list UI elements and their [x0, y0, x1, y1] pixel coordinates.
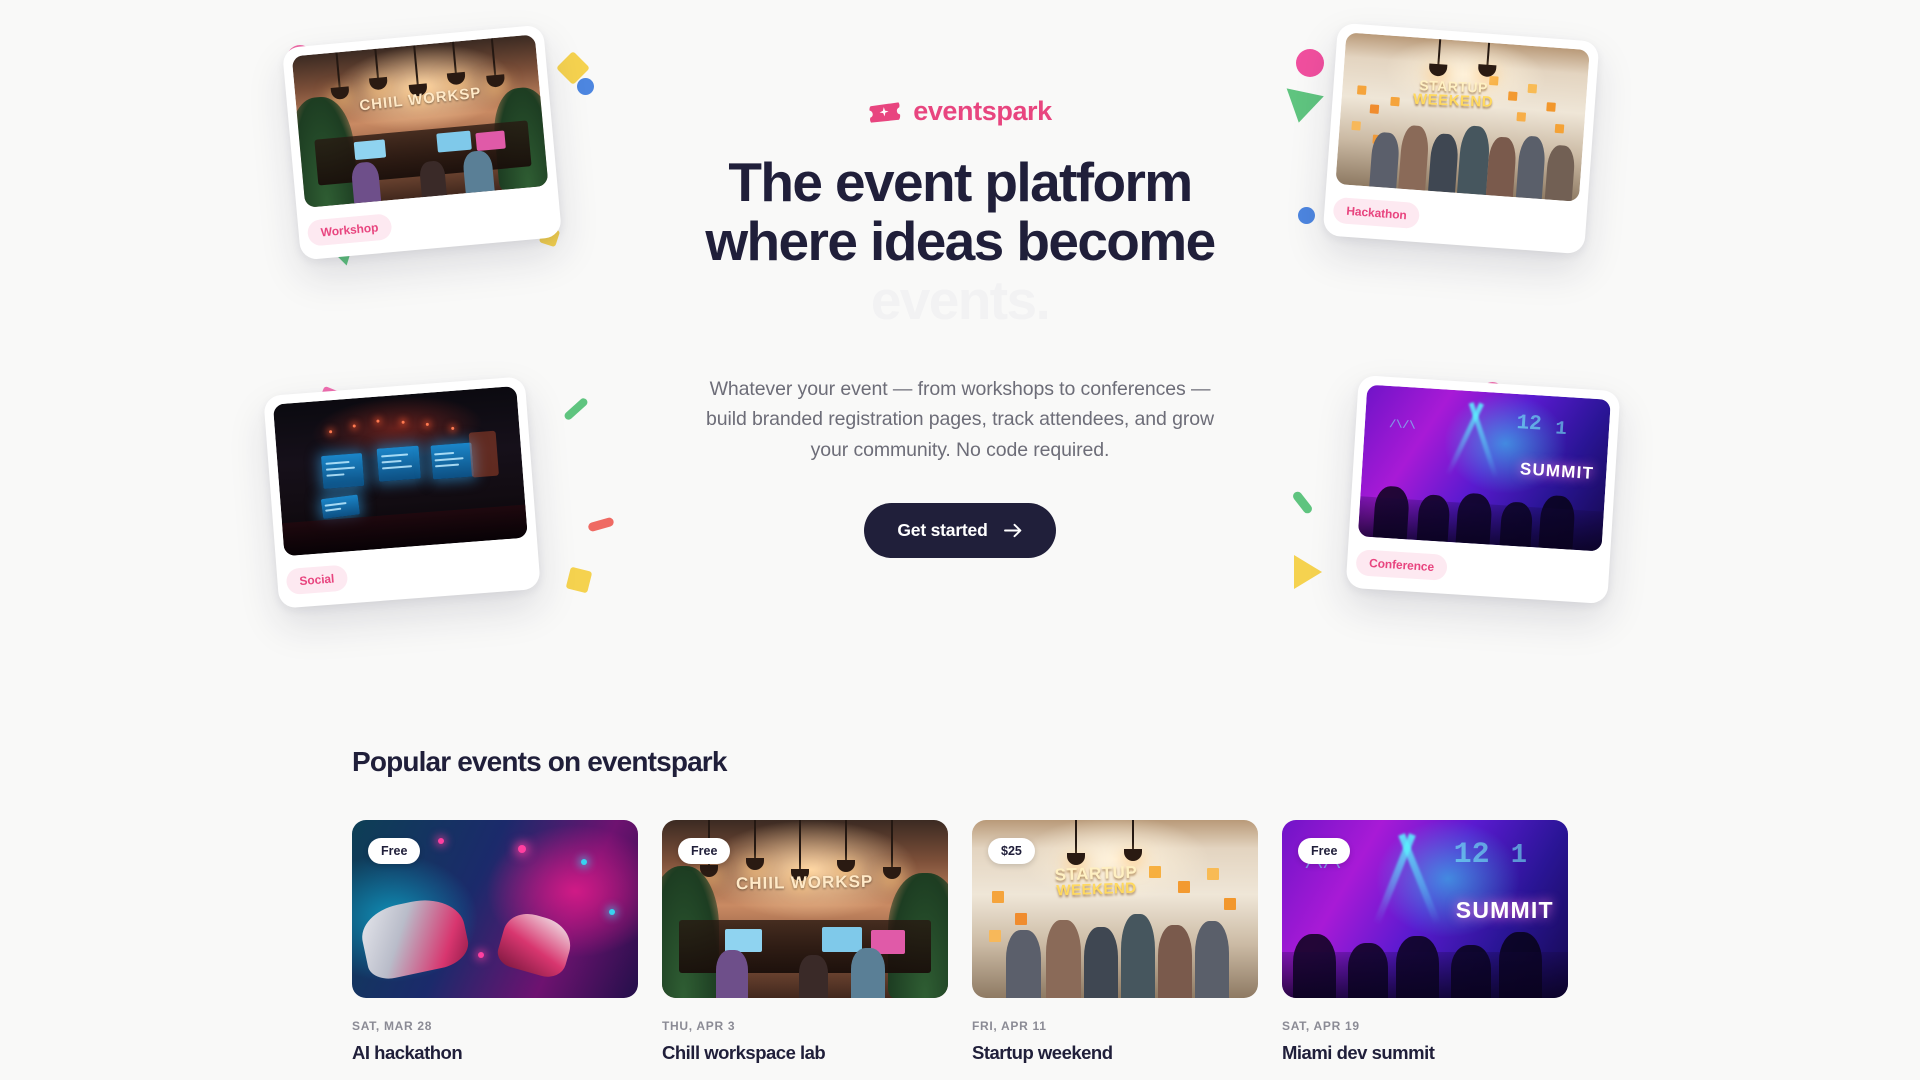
event-thumbnail[interactable]: $25 STARTUP: [972, 820, 1258, 998]
ticket-sparkle-icon: [868, 100, 902, 124]
headline-line-1: The event platform: [580, 153, 1340, 212]
floating-card-conference[interactable]: 12 1 /\/\ SUMMIT Conference: [1346, 375, 1621, 604]
event-price-badge: Free: [678, 838, 730, 864]
event-card[interactable]: Free: [352, 820, 638, 1064]
event-price-badge: Free: [1298, 838, 1350, 864]
floating-card-photo-social: [273, 386, 528, 556]
event-thumbnail[interactable]: Free: [352, 820, 638, 998]
event-card[interactable]: Free 12 1 /\/\ SUMMIT: [1282, 820, 1568, 1064]
event-price-badge: Free: [368, 838, 420, 864]
floating-card-badge-social: Social: [286, 565, 349, 596]
event-thumbnail[interactable]: Free CHIIL WORKSP: [662, 820, 948, 998]
hack-line-2: WEEKEND: [1412, 92, 1493, 110]
get-started-label: Get started: [897, 520, 987, 541]
headline-line-3: events.: [580, 271, 1340, 330]
floating-card-social[interactable]: Social: [263, 376, 541, 608]
page-title: The event platform where ideas become ev…: [580, 153, 1340, 330]
event-date: SAT, MAR 28: [352, 1019, 638, 1033]
event-thumbnail[interactable]: Free 12 1 /\/\ SUMMIT: [1282, 820, 1568, 998]
floating-card-photo-conference: 12 1 /\/\ SUMMIT: [1358, 385, 1611, 552]
arrow-right-icon: [1004, 523, 1023, 538]
brand-logo[interactable]: eventspark: [580, 96, 1340, 127]
floating-card-badge-hackathon: Hackathon: [1332, 197, 1420, 229]
event-title: AI hackathon: [352, 1042, 638, 1064]
event-card[interactable]: $25 STARTUP: [972, 820, 1258, 1064]
floating-card-workshop[interactable]: CHIIL WORKSP Workshop: [282, 25, 562, 261]
photo-wall-text-conf: SUMMIT: [1519, 460, 1594, 485]
hero-section: CHIIL WORKSP Workshop: [0, 0, 1920, 690]
event-price-badge: $25: [988, 838, 1035, 864]
event-date: THU, APR 3: [662, 1019, 948, 1033]
landing-page: CHIIL WORKSP Workshop: [0, 0, 1920, 1080]
event-photo-text: SUMMIT: [1456, 897, 1554, 924]
event-card[interactable]: Free CHIIL WORKSP: [662, 820, 948, 1064]
event-title: Startup weekend: [972, 1042, 1258, 1064]
decor-dot-blue: [577, 78, 594, 95]
hero-subtitle: Whatever your event — from workshops to …: [700, 374, 1220, 466]
get-started-button[interactable]: Get started: [864, 503, 1055, 558]
floating-card-photo-workshop: CHIIL WORKSP: [292, 34, 549, 207]
decor-square-yellow-lower: [566, 567, 593, 594]
brand-name: eventspark: [913, 96, 1052, 127]
floating-card-badge-workshop: Workshop: [307, 213, 393, 246]
event-photo-text: STARTUP WEEKEND: [1054, 865, 1138, 899]
event-photo-text-2: WEEKEND: [1055, 881, 1138, 899]
photo-wall-text-hack: STARTUP WEEKEND: [1412, 78, 1493, 109]
headline-line-2: where ideas become: [580, 212, 1340, 271]
hero-content: eventspark The event platform where idea…: [580, 96, 1340, 558]
floating-card-photo-hackathon: STARTUP WEEKEND: [1335, 32, 1589, 201]
decor-triangle-yellow-right: [1294, 555, 1322, 589]
event-photo-text: CHIIL WORKSP: [736, 872, 874, 894]
events-grid: Free: [352, 820, 1568, 1064]
decor-circle-magenta: [1296, 49, 1324, 77]
event-title: Chill workspace lab: [662, 1042, 948, 1064]
event-date: FRI, APR 11: [972, 1019, 1258, 1033]
floating-card-badge-conference: Conference: [1355, 549, 1447, 581]
popular-events-section: Popular events on eventspark Free: [0, 746, 1920, 1064]
event-title: Miami dev summit: [1282, 1042, 1568, 1064]
event-date: SAT, APR 19: [1282, 1019, 1568, 1033]
popular-events-title: Popular events on eventspark: [352, 746, 1568, 778]
floating-card-hackathon[interactable]: STARTUP WEEKEND Hackathon: [1323, 23, 1600, 255]
